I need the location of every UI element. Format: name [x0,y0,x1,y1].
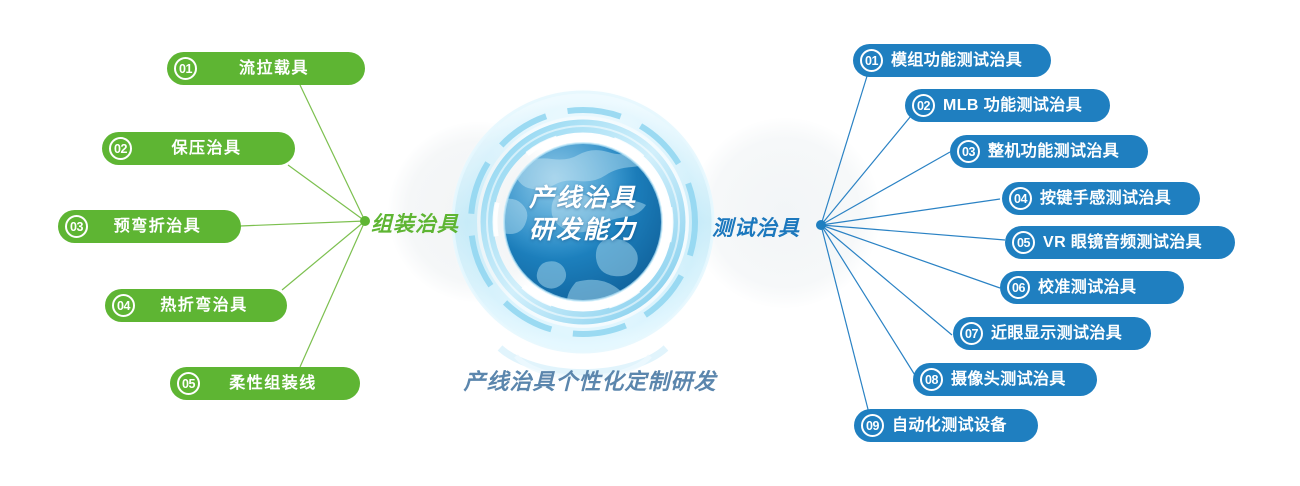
item-label: 校准测试治具 [1030,271,1168,304]
list-item-left-04[interactable]: 04 热折弯治具 [105,289,287,322]
item-label: 柔性组装线 [200,367,344,400]
list-item-left-01[interactable]: 01 流拉载具 [167,52,365,85]
item-label: VR 眼镜音频测试治具 [1035,226,1219,259]
item-number: 03 [957,140,980,163]
list-item-left-02[interactable]: 02 保压治具 [102,132,295,165]
item-label: 摄像头测试治具 [943,363,1081,396]
item-label: 模组功能测试治具 [883,44,1035,77]
list-item-right-02[interactable]: 02 MLB 功能测试治具 [905,89,1110,122]
item-label: 热折弯治具 [135,289,271,322]
list-item-left-05[interactable]: 05 柔性组装线 [170,367,360,400]
item-number: 04 [1009,187,1032,210]
item-number: 06 [1007,276,1030,299]
infographic-canvas: 产线治具 研发能力 产线治具个性化定制研发 组装治具 测试治具 01 流拉载具 … [0,0,1300,486]
item-number: 01 [860,49,883,72]
item-number: 03 [65,215,88,238]
item-number: 07 [960,322,983,345]
list-item-right-06[interactable]: 06 校准测试治具 [1000,271,1184,304]
list-item-left-03[interactable]: 03 预弯折治具 [58,210,241,243]
item-label: MLB 功能测试治具 [935,89,1094,122]
item-label: 预弯折治具 [88,210,225,243]
right-branch-title: 测试治具 [712,212,800,242]
globe-center-title: 产线治具 研发能力 [498,182,668,246]
item-number: 09 [861,414,884,437]
item-number: 05 [177,372,200,395]
list-item-right-09[interactable]: 09 自动化测试设备 [854,409,1038,442]
item-label: 近眼显示测试治具 [983,317,1135,350]
item-number: 05 [1012,231,1035,254]
item-number: 04 [112,294,135,317]
item-label: 按键手感测试治具 [1032,182,1184,215]
list-item-right-01[interactable]: 01 模组功能测试治具 [853,44,1051,77]
item-label: 整机功能测试治具 [980,135,1132,168]
item-label: 自动化测试设备 [884,409,1022,442]
item-label: 保压治具 [132,132,279,165]
globe-title-line2: 研发能力 [498,214,668,246]
left-branch-title: 组装治具 [371,208,459,238]
list-item-right-03[interactable]: 03 整机功能测试治具 [950,135,1148,168]
item-number: 01 [174,57,197,80]
list-item-right-07[interactable]: 07 近眼显示测试治具 [953,317,1151,350]
globe-title-line1: 产线治具 [529,184,637,212]
list-item-right-05[interactable]: 05 VR 眼镜音频测试治具 [1005,226,1235,259]
item-number: 08 [920,368,943,391]
list-item-right-04[interactable]: 04 按键手感测试治具 [1002,182,1200,215]
list-item-right-08[interactable]: 08 摄像头测试治具 [913,363,1097,396]
item-number: 02 [109,137,132,160]
bottom-caption: 产线治具个性化定制研发 [440,364,740,396]
item-label: 流拉载具 [197,52,349,85]
item-number: 02 [912,94,935,117]
